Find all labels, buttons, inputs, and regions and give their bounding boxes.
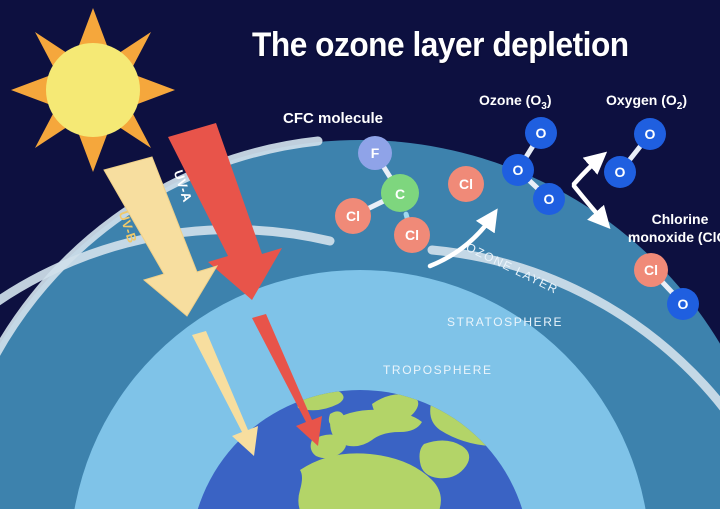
atom-symbol-o: O bbox=[645, 126, 656, 142]
oxygen-label-close: ) bbox=[682, 92, 687, 108]
atom-symbol-cl: Cl bbox=[644, 262, 658, 278]
ozone-label: Ozone (O3) bbox=[479, 92, 552, 112]
oxygen-label-text: Oxygen (O bbox=[606, 92, 677, 108]
oxygen-label: Oxygen (O2) bbox=[606, 92, 687, 112]
illustration: F C Cl Cl Cl O O O O O Cl O bbox=[0, 0, 720, 509]
troposphere-label: TROPOSPHERE bbox=[383, 363, 493, 377]
atom-symbol-o: O bbox=[536, 125, 547, 141]
page-title: The ozone layer depletion bbox=[252, 26, 629, 65]
atom-symbol-o: O bbox=[513, 162, 524, 178]
atom-symbol-o: O bbox=[615, 164, 626, 180]
chlorine-monoxide-label: Chlorine monoxide (ClO) bbox=[620, 210, 720, 246]
stratosphere-label: STRATOSPHERE bbox=[447, 315, 563, 329]
atom-symbol-o: O bbox=[678, 296, 689, 312]
sun bbox=[11, 8, 175, 172]
infographic-canvas: F C Cl Cl Cl O O O O O Cl O The ozone la… bbox=[0, 0, 720, 509]
sun-disc bbox=[46, 43, 140, 137]
atom-symbol-f: F bbox=[371, 145, 380, 161]
atom-symbol-cl2: Cl bbox=[405, 227, 419, 243]
atom-symbol-cl-free: Cl bbox=[459, 176, 473, 192]
ozone-label-text: Ozone (O bbox=[479, 92, 541, 108]
ozone-label-close: ) bbox=[547, 92, 552, 108]
atom-symbol-c: C bbox=[395, 186, 405, 202]
atom-symbol-o: O bbox=[544, 191, 555, 207]
cfc-molecule-label: CFC molecule bbox=[283, 110, 383, 127]
atom-symbol-cl1: Cl bbox=[346, 208, 360, 224]
